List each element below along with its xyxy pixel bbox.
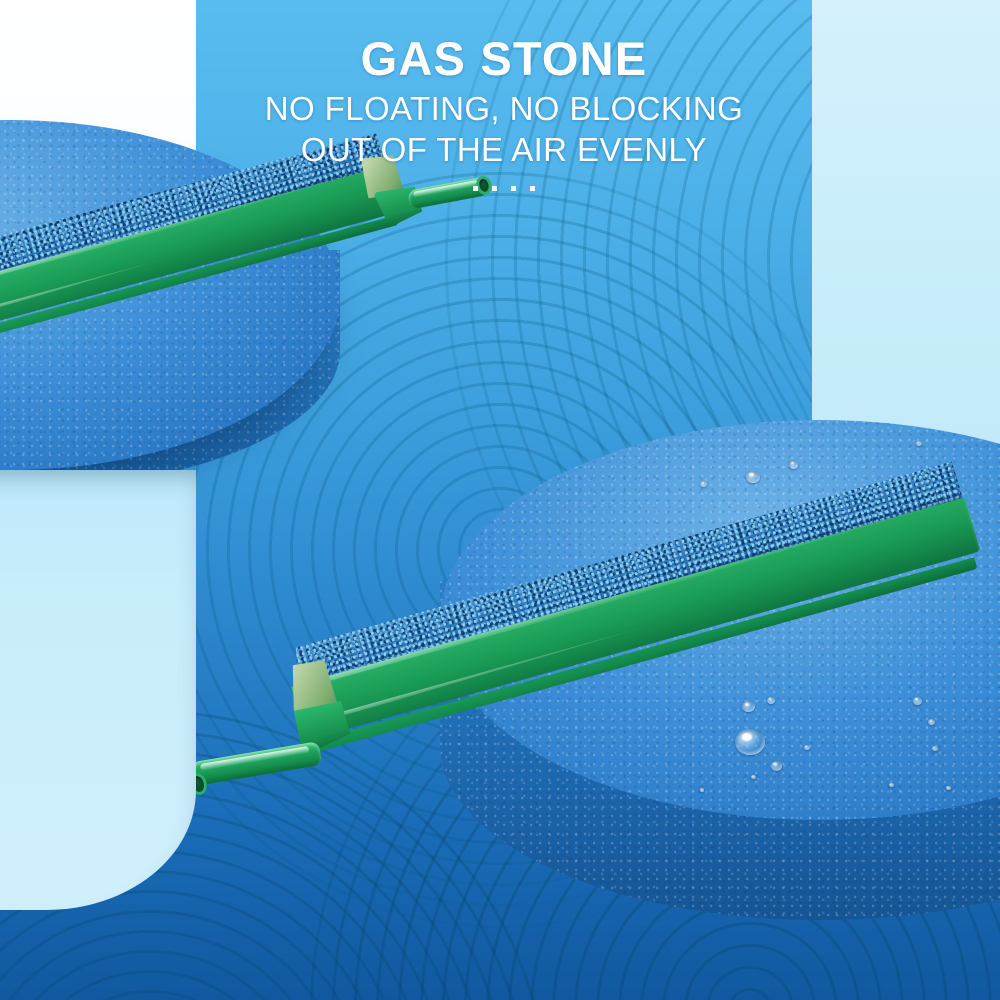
- water-droplet: [767, 697, 775, 704]
- panel-bottom-left: [0, 470, 196, 910]
- panel-right: [812, 0, 1000, 472]
- water-droplet: [913, 697, 922, 705]
- product-banner: GAS STONE NO FLOATING, NO BLOCKING OUT O…: [0, 0, 1000, 1000]
- water-droplet: [789, 461, 798, 469]
- water-droplet: [700, 788, 704, 792]
- water-droplet: [771, 761, 782, 771]
